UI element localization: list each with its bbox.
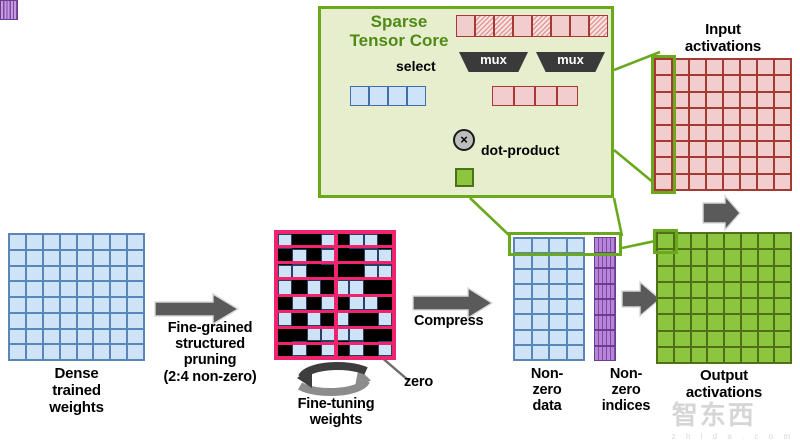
output-activation-cell xyxy=(674,298,691,314)
input-activation-cell xyxy=(689,75,706,91)
dense-weight-cell xyxy=(77,297,94,313)
output-activation-cell xyxy=(691,233,708,249)
pruned-nonzero-cell xyxy=(292,295,306,310)
highlight-output-cell xyxy=(653,229,678,254)
output-activation-cell xyxy=(741,282,758,298)
input-activation-cell xyxy=(774,141,791,157)
output-activation-cell xyxy=(674,314,691,330)
input-activation-cell xyxy=(774,125,791,141)
stc-skipped-activation-cell xyxy=(532,15,551,37)
dense-weight-cell xyxy=(43,313,60,329)
dense-weight-cell xyxy=(127,329,144,345)
dense-weight-cell xyxy=(93,297,110,313)
dense-weight-cell xyxy=(110,281,127,297)
pruned-row-divider xyxy=(274,277,396,280)
dense-weight-cell xyxy=(43,297,60,313)
output-activation-cell xyxy=(758,233,775,249)
fine-tuning-label: Fine-tuning weights xyxy=(276,396,396,428)
output-activation-cell xyxy=(741,314,758,330)
input-activation-cell xyxy=(740,92,757,108)
nonzero-data-cell xyxy=(549,269,567,284)
nonzero-data-cell xyxy=(549,345,567,360)
stc-selected-activation-cell xyxy=(514,86,536,106)
output-activation-cell xyxy=(691,331,708,347)
dense-weight-cell xyxy=(60,250,77,266)
dense-weight-cell xyxy=(60,313,77,329)
dense-weight-cell xyxy=(26,234,43,250)
input-activation-cell xyxy=(689,174,706,190)
dense-weight-cell xyxy=(9,344,26,360)
dense-weight-cell xyxy=(77,313,94,329)
input-activation-cell xyxy=(774,174,791,190)
dense-weight-cell xyxy=(26,313,43,329)
nonzero-data-cell xyxy=(567,269,585,284)
input-activation-cell xyxy=(689,141,706,157)
dense-weight-cell xyxy=(26,250,43,266)
stc-selected-activation-cell xyxy=(535,86,557,106)
dense-weights-label: Dense trained weights xyxy=(8,366,145,416)
multiply-icon: × xyxy=(453,129,475,151)
output-activation-cell xyxy=(707,282,724,298)
output-activation-cell xyxy=(707,347,724,363)
input-activation-cell xyxy=(706,141,723,157)
stc-selected-activation-cell xyxy=(492,86,514,106)
nonzero-data-cell xyxy=(514,269,532,284)
pruning-arrow-label: Fine-grained structured pruning (2:4 non… xyxy=(150,320,270,385)
output-activation-cell xyxy=(657,298,674,314)
output-activation-cell xyxy=(741,298,758,314)
dense-weight-cell xyxy=(110,313,127,329)
stc-activation-cell xyxy=(570,15,589,37)
input-activation-cell xyxy=(723,125,740,141)
output-activation-cell xyxy=(774,347,791,363)
dense-weight-cell xyxy=(9,266,26,282)
dense-weight-cell xyxy=(77,344,94,360)
pruned-row-divider xyxy=(274,261,396,264)
input-activation-cell xyxy=(689,108,706,124)
input-activation-cell xyxy=(706,59,723,75)
output-activation-cell xyxy=(707,314,724,330)
block-arrow-input-down xyxy=(703,196,740,230)
pruned-nonzero-cell xyxy=(349,295,363,310)
input-activation-cell xyxy=(723,157,740,173)
dense-weight-cell xyxy=(43,344,60,360)
input-activation-cell xyxy=(757,174,774,190)
nonzero-data-cell xyxy=(514,314,532,329)
dense-weight-cell xyxy=(93,281,110,297)
input-activations-label: Input activations xyxy=(648,22,798,56)
input-activation-cell xyxy=(774,157,791,173)
dense-weight-cell xyxy=(110,266,127,282)
nonzero-data-cell xyxy=(567,314,585,329)
output-activation-cell xyxy=(691,249,708,265)
output-activation-cell xyxy=(691,298,708,314)
pruned-nonzero-cell xyxy=(321,295,335,310)
output-activation-cell xyxy=(774,233,791,249)
input-activation-cell xyxy=(706,125,723,141)
output-activation-cell xyxy=(774,266,791,282)
output-activation-cell xyxy=(741,331,758,347)
nonzero-data-cell xyxy=(532,314,550,329)
dense-weight-cell xyxy=(127,281,144,297)
zero-label: zero xyxy=(404,374,464,390)
input-activation-cell xyxy=(723,141,740,157)
mux-left[interactable]: mux xyxy=(459,52,528,72)
input-activation-cell xyxy=(757,141,774,157)
output-activation-cell xyxy=(758,331,775,347)
output-activation-cell xyxy=(758,266,775,282)
input-activation-cell xyxy=(757,157,774,173)
output-activation-cell xyxy=(741,266,758,282)
output-activation-cell xyxy=(674,282,691,298)
dense-weight-cell xyxy=(93,266,110,282)
pruned-zero-cell xyxy=(278,295,292,310)
nonzero-data-cell xyxy=(549,314,567,329)
input-activation-cell xyxy=(774,59,791,75)
output-activation-cell xyxy=(758,314,775,330)
dense-weight-cell xyxy=(9,250,26,266)
dense-weight-cell xyxy=(60,297,77,313)
nonzero-data-cell xyxy=(532,299,550,314)
input-activation-cell xyxy=(706,174,723,190)
output-activation-cell xyxy=(774,331,791,347)
dense-weights-matrix xyxy=(8,233,145,361)
dense-weight-cell xyxy=(60,329,77,345)
output-activation-cell xyxy=(657,314,674,330)
dense-weight-cell xyxy=(43,329,60,345)
dense-weight-cell xyxy=(60,266,77,282)
output-activation-cell xyxy=(674,331,691,347)
dense-weight-cell xyxy=(93,329,110,345)
dense-weight-cell xyxy=(93,234,110,250)
pruned-row-divider xyxy=(274,310,396,313)
dense-weight-cell xyxy=(77,281,94,297)
nonzero-data-cell xyxy=(549,330,567,345)
pruned-nonzero-cell xyxy=(364,295,378,310)
output-activation-cell xyxy=(691,266,708,282)
dense-weight-cell xyxy=(110,234,127,250)
output-activation-cell xyxy=(758,249,775,265)
highlight-input-column xyxy=(651,55,676,194)
sparse-tensor-core-title: Sparse Tensor Core xyxy=(334,12,464,50)
input-activation-cell xyxy=(740,108,757,124)
dense-weight-cell xyxy=(26,344,43,360)
dense-weight-cell xyxy=(77,266,94,282)
output-activation-cell xyxy=(691,282,708,298)
nonzero-data-cell xyxy=(567,330,585,345)
input-activation-cell xyxy=(757,108,774,124)
output-activation-cell xyxy=(724,314,741,330)
output-activation-cell xyxy=(724,298,741,314)
stc-input-activation-row xyxy=(456,15,608,37)
input-activation-cell xyxy=(723,92,740,108)
output-activation-cell xyxy=(758,282,775,298)
nonzero-index-cell xyxy=(594,346,616,362)
nonzero-data-cell xyxy=(514,299,532,314)
output-activation-cell xyxy=(657,282,674,298)
input-activation-cell xyxy=(723,75,740,91)
input-activation-cell xyxy=(723,108,740,124)
nonzero-data-cell xyxy=(532,330,550,345)
dense-weight-cell xyxy=(127,266,144,282)
input-activation-cell xyxy=(774,108,791,124)
nonzero-data-cell xyxy=(549,299,567,314)
dense-weight-cell xyxy=(26,297,43,313)
nonzero-data-cell xyxy=(514,345,532,360)
nonzero-data-cell xyxy=(567,345,585,360)
input-activation-cell xyxy=(774,75,791,91)
dense-weight-cell xyxy=(60,344,77,360)
dense-weight-cell xyxy=(43,266,60,282)
output-activation-cell xyxy=(707,266,724,282)
nonzero-data-cell xyxy=(532,269,550,284)
dense-weight-cell xyxy=(110,250,127,266)
dense-weight-cell xyxy=(77,250,94,266)
stc-skipped-activation-cell xyxy=(494,15,513,37)
nonzero-index-cell xyxy=(594,299,616,315)
dense-weight-cell xyxy=(127,297,144,313)
stc-weight-cell xyxy=(407,86,426,106)
output-activation-cell xyxy=(707,249,724,265)
stc-activation-cell xyxy=(456,15,475,37)
output-activation-cell xyxy=(774,282,791,298)
nonzero-data-label: Non- zero data xyxy=(505,366,589,415)
dense-weight-cell xyxy=(26,281,43,297)
pruned-row-divider xyxy=(274,342,396,345)
input-activation-cell xyxy=(706,157,723,173)
input-activation-cell xyxy=(757,125,774,141)
stc-selected-activation-row xyxy=(492,86,578,106)
input-activation-cell xyxy=(757,75,774,91)
stc-skipped-activation-cell xyxy=(475,15,494,37)
input-activation-cell xyxy=(706,75,723,91)
pruned-row-divider xyxy=(274,294,396,297)
output-activation-cell xyxy=(741,233,758,249)
nonzero-data-cell xyxy=(549,284,567,299)
select-label: select xyxy=(396,58,436,74)
stc-output-cell xyxy=(455,168,474,187)
input-activation-cell xyxy=(757,59,774,75)
output-activation-cell xyxy=(774,249,791,265)
input-activation-cell xyxy=(689,125,706,141)
dot-product-label: dot-product xyxy=(481,142,560,158)
dense-weight-cell xyxy=(9,234,26,250)
output-activation-cell xyxy=(741,249,758,265)
mux-right[interactable]: mux xyxy=(536,52,605,72)
output-activation-cell xyxy=(657,347,674,363)
output-activation-cell xyxy=(774,314,791,330)
dense-weight-cell xyxy=(43,234,60,250)
output-activation-cell xyxy=(707,331,724,347)
stc-nonzero-weight-row xyxy=(350,86,426,106)
nonzero-index-cell xyxy=(594,330,616,346)
output-activation-cell xyxy=(724,266,741,282)
nonzero-data-cell xyxy=(514,330,532,345)
input-activation-cell xyxy=(723,174,740,190)
dense-weight-cell xyxy=(9,281,26,297)
output-activation-cell xyxy=(758,298,775,314)
input-activation-cell xyxy=(757,92,774,108)
stc-weight-cell xyxy=(388,86,407,106)
dense-weight-cell xyxy=(127,344,144,360)
nonzero-data-cell xyxy=(567,284,585,299)
output-activation-cell xyxy=(674,347,691,363)
output-activation-cell xyxy=(774,298,791,314)
highlight-compressed-row xyxy=(508,232,622,256)
dense-weight-cell xyxy=(43,250,60,266)
nonzero-data-cell xyxy=(514,284,532,299)
pruned-row-divider xyxy=(274,245,396,248)
dense-weight-cell xyxy=(26,329,43,345)
input-activation-cell xyxy=(723,59,740,75)
output-activation-cell xyxy=(741,347,758,363)
dense-weight-cell xyxy=(9,313,26,329)
dense-weight-cell xyxy=(127,250,144,266)
dense-weight-cell xyxy=(60,281,77,297)
nonzero-data-cell xyxy=(532,345,550,360)
output-activation-cell xyxy=(758,347,775,363)
pruned-zero-cell xyxy=(378,295,392,310)
dense-weight-cell xyxy=(26,266,43,282)
input-activation-cell xyxy=(740,59,757,75)
dense-weight-cell xyxy=(93,313,110,329)
figure-root: Sparse Tensor Core select mux mux × dot-… xyxy=(0,0,800,443)
input-activation-cell xyxy=(706,92,723,108)
compress-label: Compress xyxy=(414,313,494,329)
dense-weight-cell xyxy=(77,329,94,345)
input-activation-cell xyxy=(740,125,757,141)
input-activation-cell xyxy=(689,157,706,173)
dense-weight-cell xyxy=(127,313,144,329)
stc-skipped-activation-cell xyxy=(589,15,608,37)
input-activation-cell xyxy=(740,75,757,91)
nonzero-data-cell xyxy=(532,284,550,299)
output-activation-cell xyxy=(657,266,674,282)
dense-weight-cell xyxy=(9,329,26,345)
stc-selected-activation-cell xyxy=(557,86,579,106)
nonzero-index-cell xyxy=(594,315,616,331)
input-activation-cell xyxy=(774,92,791,108)
pruned-row-divider xyxy=(274,326,396,329)
dense-weight-cell xyxy=(93,344,110,360)
output-activation-cell xyxy=(724,282,741,298)
stc-weight-cell xyxy=(369,86,388,106)
output-activation-cell xyxy=(707,298,724,314)
dense-weight-cell xyxy=(110,329,127,345)
block-arrow-to-output xyxy=(622,282,660,316)
dense-weight-cell xyxy=(77,234,94,250)
fine-tuning-loop-arrow xyxy=(297,366,372,392)
input-activation-cell xyxy=(740,157,757,173)
dense-weight-cell xyxy=(110,344,127,360)
input-activation-cell xyxy=(689,92,706,108)
output-activation-cell xyxy=(724,347,741,363)
output-activation-cell xyxy=(707,233,724,249)
output-activation-cell xyxy=(724,331,741,347)
dense-weight-cell xyxy=(93,250,110,266)
stc-activation-cell xyxy=(513,15,532,37)
nonzero-index-cell xyxy=(594,284,616,300)
dense-weight-cell xyxy=(9,297,26,313)
input-activation-cell xyxy=(706,108,723,124)
dense-weight-cell xyxy=(110,297,127,313)
output-activation-cell xyxy=(724,233,741,249)
nonzero-data-cell xyxy=(567,299,585,314)
input-activation-cell xyxy=(689,59,706,75)
dense-weight-cell xyxy=(43,281,60,297)
input-activation-cell xyxy=(740,174,757,190)
input-activation-cell xyxy=(740,141,757,157)
pruned-zero-cell xyxy=(307,295,321,310)
output-activations-label: Output activations xyxy=(650,368,798,402)
stc-weight-cell xyxy=(350,86,369,106)
output-activation-cell xyxy=(691,347,708,363)
output-activation-cell xyxy=(691,314,708,330)
dense-weight-cell xyxy=(60,234,77,250)
output-activation-cell xyxy=(674,266,691,282)
nonzero-index-cell xyxy=(594,268,616,284)
dense-weight-cell xyxy=(127,234,144,250)
output-activation-cell xyxy=(657,331,674,347)
stc-activation-cell xyxy=(551,15,570,37)
output-activation-cell xyxy=(724,249,741,265)
